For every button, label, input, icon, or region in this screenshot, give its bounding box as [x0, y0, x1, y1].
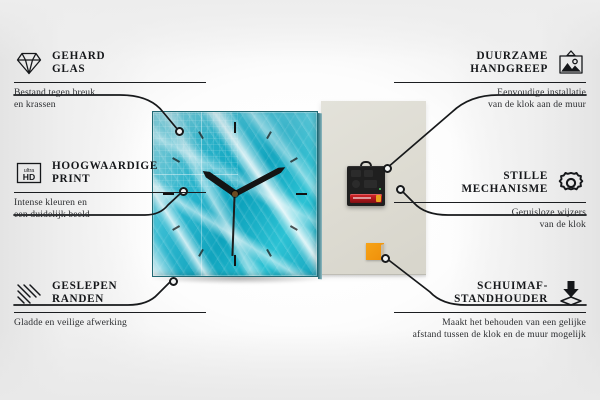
diagonal-lines-icon [14, 278, 44, 308]
diamond-icon [14, 48, 44, 78]
gear-icon [556, 168, 586, 198]
feature-header: DUURZAME HANDGREEP [394, 48, 586, 78]
clock-tick [235, 193, 307, 195]
feature-header: GEHARD GLAS [14, 48, 206, 78]
clock-movement[interactable] [347, 166, 385, 206]
feature-description: Gladde en veilige afwerking [14, 317, 206, 329]
feature-schuimafstandhouder[interactable]: SCHUIMAF- STANDHOUDER Maakt het behouden… [394, 278, 586, 341]
svg-text:HD: HD [23, 172, 35, 182]
feature-description: Intense kleuren en een duidelijk beeld [14, 197, 206, 221]
connector-node-glass [175, 127, 184, 136]
clock-glass-edge [318, 113, 322, 279]
press-down-arrow-icon [556, 278, 586, 308]
connector-node-handle [383, 164, 392, 173]
feature-header: SCHUIMAF- STANDHOUDER [394, 278, 586, 308]
feature-title: GESLEPEN RANDEN [52, 280, 117, 307]
battery [350, 194, 382, 203]
clock-center-cap [232, 191, 238, 197]
feature-hoogwaardige-print[interactable]: ultra HD HOOGWAARDIGE PRINT Intense kleu… [14, 158, 206, 221]
divider [394, 312, 586, 313]
feature-title: STILLE MECHANISME [461, 170, 548, 197]
feature-title: GEHARD GLAS [52, 50, 105, 77]
feature-description: Maakt het behouden van een gelijke afsta… [394, 317, 586, 341]
movement-body [347, 166, 385, 206]
feature-description: Bestand tegen breuk en krassen [14, 87, 206, 111]
feature-duurzame-handgreep[interactable]: DUURZAME HANDGREEP Eenvoudige installati… [394, 48, 586, 111]
divider [394, 202, 586, 203]
feature-geslepen-randen[interactable]: GESLEPEN RANDEN Gladde en veilige afwerk… [14, 278, 206, 329]
feature-title: DUURZAME HANDGREEP [470, 50, 548, 77]
connector-node-spacer [381, 254, 390, 263]
feature-header: GESLEPEN RANDEN [14, 278, 206, 308]
feature-title: HOOGWAARDIGE PRINT [52, 160, 158, 187]
divider [14, 192, 206, 193]
feature-description: Geruisloze wijzers van de klok [394, 207, 586, 231]
feature-gehard-glas[interactable]: GEHARD GLAS Bestand tegen breuk en krass… [14, 48, 206, 111]
product-feature-infographic: GEHARD GLAS Bestand tegen breuk en krass… [0, 0, 600, 400]
feature-header: STILLE MECHANISME [394, 168, 586, 198]
feature-description: Eenvoudige installatie van de klok aan d… [394, 87, 586, 111]
feature-title: SCHUIMAF- STANDHOUDER [454, 280, 548, 307]
divider [394, 82, 586, 83]
divider [14, 312, 206, 313]
feature-header: ultra HD HOOGWAARDIGE PRINT [14, 158, 206, 188]
feature-stille-mechanisme[interactable]: STILLE MECHANISME Geruisloze wijzers van… [394, 168, 586, 231]
divider [14, 82, 206, 83]
ultra-hd-icon: ultra HD [14, 158, 44, 188]
clock-tick [234, 122, 236, 194]
picture-frame-icon [556, 48, 586, 78]
